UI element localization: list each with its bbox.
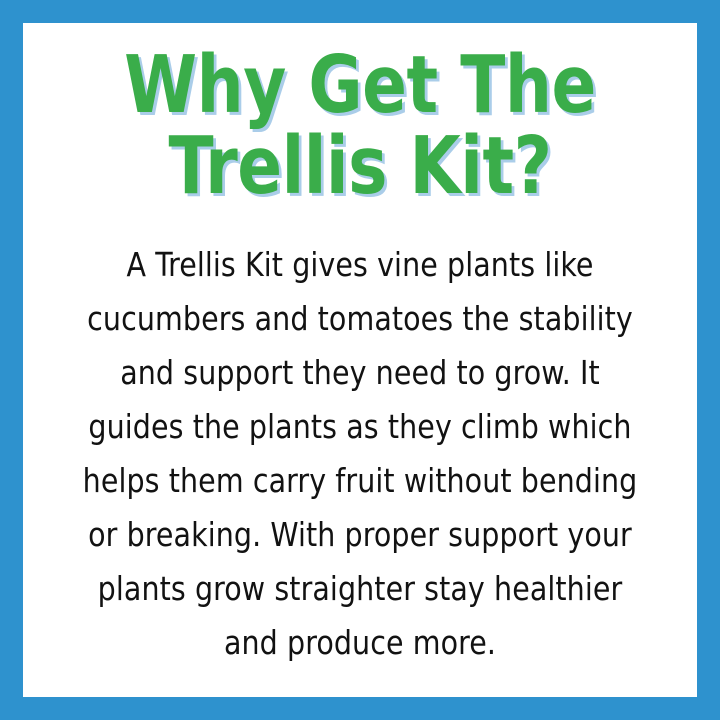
body-line-5: helps them carry fruit without bending [54,454,666,508]
body-line-3: and support they need to grow. It [54,346,666,400]
white-content-card: Why Get The Trellis Kit? A Trellis Kit g… [23,23,697,697]
body-line-4: guides the plants as they climb which [54,400,666,454]
body-line-7: plants grow straighter stay healthier [54,562,666,616]
poster-canvas: Why Get The Trellis Kit? A Trellis Kit g… [0,0,720,720]
body-paragraph: A Trellis Kit gives vine plants like cuc… [41,238,679,670]
body-line-1: A Trellis Kit gives vine plants like [54,238,666,292]
page-title: Why Get The Trellis Kit? [63,45,656,208]
page-title-line-2: Trellis Kit? [63,126,656,207]
body-line-2: cucumbers and tomatoes the stability [54,292,666,346]
page-title-line-1: Why Get The [63,45,656,126]
body-line-8: and produce more. [54,616,666,670]
body-line-6: or breaking. With proper support your [54,508,666,562]
